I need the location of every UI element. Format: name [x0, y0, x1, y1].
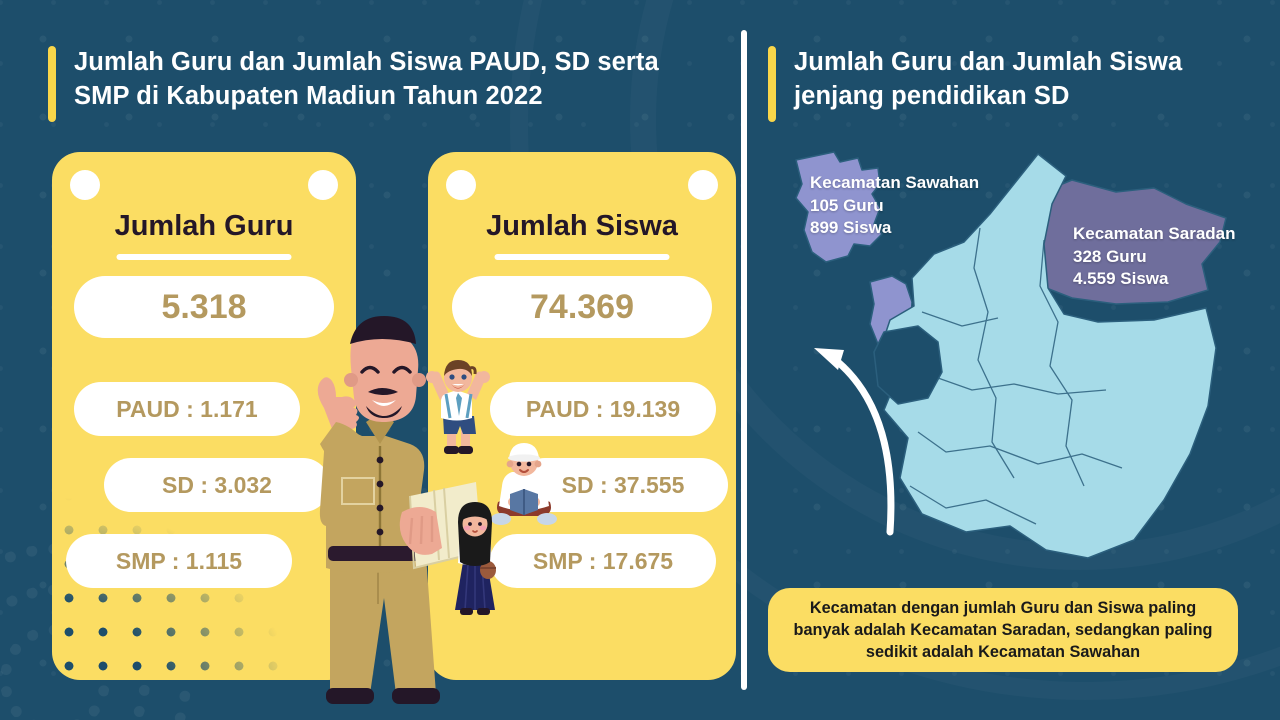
guru-smp-row: SMP : 1.115	[66, 534, 292, 588]
saradan-name: Kecamatan Saradan	[1073, 223, 1236, 246]
left-title-text: Jumlah Guru dan Jumlah Siswa PAUD, SD se…	[74, 46, 708, 114]
siswa-paud-row: PAUD : 19.139	[490, 382, 716, 436]
sawahan-students: 899 Siswa	[810, 217, 979, 240]
card-punch-hole-right	[688, 170, 718, 200]
left-panel-title: Jumlah Guru dan Jumlah Siswa PAUD, SD se…	[48, 46, 708, 122]
siswa-smp-row: SMP : 17.675	[490, 534, 716, 588]
panel-divider	[741, 30, 747, 690]
title-accent-bar	[48, 46, 56, 122]
saradan-students: 4.559 Siswa	[1073, 268, 1236, 291]
paud-student-illustration	[424, 358, 492, 463]
card-punch-hole-right	[308, 170, 338, 200]
map-label-sawahan: Kecamatan Sawahan 105 Guru 899 Siswa	[810, 172, 979, 240]
sawahan-teachers: 105 Guru	[810, 195, 979, 218]
title-accent-bar-right	[768, 46, 776, 122]
card-punch-hole-left	[70, 170, 100, 200]
card-guru-heading: Jumlah Guru	[52, 210, 356, 243]
map-summary-note: Kecamatan dengan jumlah Guru dan Siswa p…	[768, 588, 1238, 672]
right-title-text: Jumlah Guru dan Jumlah Siswa jenjang pen…	[794, 46, 1228, 114]
sawahan-name: Kecamatan Sawahan	[810, 172, 979, 195]
card-siswa-heading: Jumlah Siswa	[428, 210, 736, 243]
map-label-saradan: Kecamatan Saradan 328 Guru 4.559 Siswa	[1073, 223, 1236, 291]
card-guru-underline	[117, 254, 292, 260]
card-punch-hole-left	[446, 170, 476, 200]
smp-student-illustration	[444, 500, 506, 625]
right-panel-title: Jumlah Guru dan Jumlah Siswa jenjang pen…	[768, 46, 1228, 122]
saradan-teachers: 328 Guru	[1073, 246, 1236, 269]
map-enclave-kota-madiun[interactable]	[874, 326, 942, 404]
card-siswa-underline	[495, 254, 670, 260]
